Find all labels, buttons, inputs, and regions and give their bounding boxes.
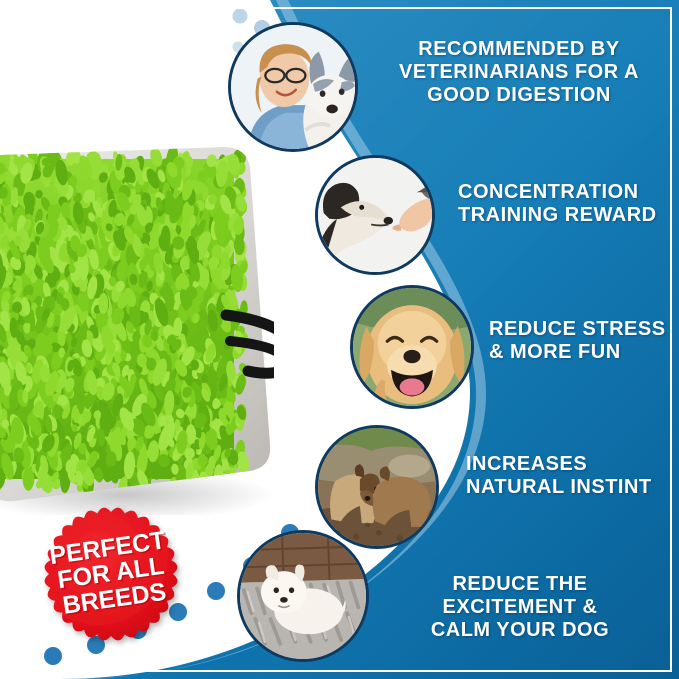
badge-label: PERFECT FOR ALL BREEDS <box>15 478 207 670</box>
benefit-text-veterinarians: RECOMMENDED BY VETERINARIANS FOR A GOOD … <box>372 38 666 106</box>
photo-dog-taking-treat <box>315 155 435 275</box>
product-snuffle-mat <box>0 145 274 515</box>
benefit-text-reduce-stress: REDUCE STRESS & MORE FUN <box>489 318 674 364</box>
benefit-text-concentration: CONCENTRATION TRAINING REWARD <box>458 181 673 227</box>
benefit-text-calm: REDUCE THE EXCITEMENT & CALM YOUR DOG <box>374 573 666 641</box>
photo-pomeranian-on-mat <box>237 530 369 662</box>
product-feature-graphic: RECOMMENDED BY VETERINARIANS FOR A GOOD … <box>0 0 679 679</box>
benefit-text-natural-instinct: INCREASES NATURAL INSTINT <box>466 453 674 499</box>
perfect-for-all-breeds-badge: PERFECT FOR ALL BREEDS <box>26 489 196 659</box>
photo-happy-golden-retriever <box>350 285 474 409</box>
photo-dogs-digging-outdoors <box>315 425 439 549</box>
photo-vet-with-collie <box>228 22 358 152</box>
